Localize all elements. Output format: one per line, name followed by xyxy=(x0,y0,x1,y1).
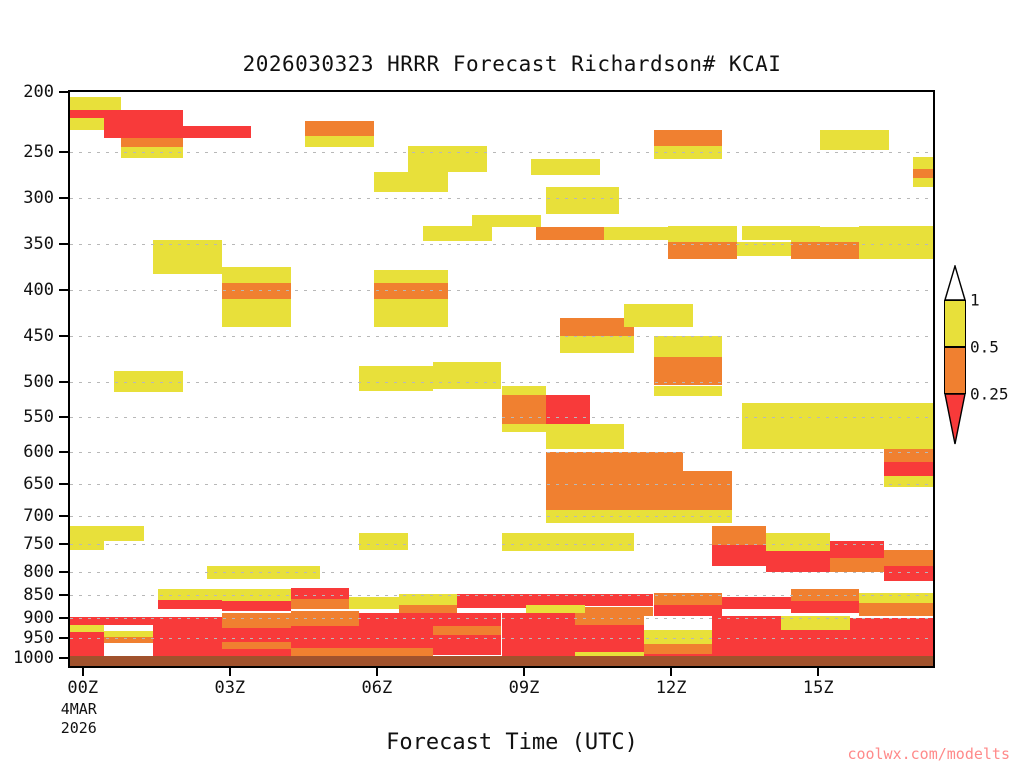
heatmap-cell xyxy=(560,336,634,353)
heatmap-cell xyxy=(374,172,448,191)
colorbar-tick-label: 1 xyxy=(970,291,980,310)
gridline xyxy=(70,572,933,573)
heatmap-cell xyxy=(433,626,502,635)
heatmap-cell xyxy=(359,533,408,550)
y-axis-tick-mark xyxy=(59,594,68,596)
heatmap-cell xyxy=(222,613,291,628)
ground-band xyxy=(70,656,933,666)
y-axis-tick-mark xyxy=(59,637,68,639)
y-axis-tick-mark xyxy=(59,617,68,619)
heatmap-cell xyxy=(104,526,143,541)
heatmap-cell xyxy=(791,601,860,614)
heatmap-cell xyxy=(222,299,291,327)
heatmap-cell xyxy=(374,299,448,327)
heatmap-cell xyxy=(624,304,693,327)
heatmap-cell xyxy=(546,187,620,214)
heatmap-cell xyxy=(884,476,933,487)
y-axis-tick-label: 400 xyxy=(0,280,54,300)
y-axis-tick-mark xyxy=(59,243,68,245)
heatmap-cell xyxy=(884,566,933,581)
heatmap-cell xyxy=(644,630,713,644)
heatmap-cell xyxy=(546,424,624,449)
heatmap-cell xyxy=(305,136,374,147)
heatmap-cell xyxy=(433,362,502,389)
heatmap-cell xyxy=(766,551,830,572)
heatmap-cells xyxy=(70,92,933,666)
colorbar-under-arrow xyxy=(944,393,966,445)
gridline xyxy=(70,595,933,596)
gridline xyxy=(70,452,933,453)
gridline xyxy=(70,290,933,291)
y-axis-tick-mark xyxy=(59,451,68,453)
heatmap-cell xyxy=(158,600,222,609)
colorbar-tick-label: 0.5 xyxy=(970,338,999,357)
gridline xyxy=(70,382,933,383)
x-axis-tick-label: 12Z xyxy=(656,678,687,698)
heatmap-cell xyxy=(712,545,766,566)
heatmap-cell xyxy=(502,386,546,395)
y-axis-tick-mark xyxy=(59,151,68,153)
heatmap-cell xyxy=(654,336,723,357)
heatmap-cell xyxy=(742,403,869,449)
heatmap-cell xyxy=(70,97,121,110)
heatmap-cell xyxy=(575,533,634,551)
y-axis-tick-mark xyxy=(59,289,68,291)
heatmap-cell xyxy=(654,130,723,146)
heatmap-cell xyxy=(913,169,933,178)
heatmap-cell xyxy=(859,226,933,243)
heatmap-cell xyxy=(423,226,492,242)
heatmap-cell xyxy=(859,603,933,615)
y-axis: 2002503003504004505005506006507007508008… xyxy=(0,90,68,668)
heatmap-cell xyxy=(104,110,182,138)
y-axis-tick-mark xyxy=(59,381,68,383)
y-axis-tick-label: 200 xyxy=(0,82,54,102)
y-axis-tick-label: 250 xyxy=(0,142,54,162)
y-axis-tick-label: 450 xyxy=(0,326,54,346)
y-axis-tick-label: 800 xyxy=(0,562,54,582)
heatmap-cell xyxy=(604,227,673,240)
y-axis-tick-mark xyxy=(59,416,68,418)
gridline xyxy=(70,198,933,199)
y-axis-tick-label: 850 xyxy=(0,585,54,605)
heatmap-cell xyxy=(668,226,737,243)
x-axis-tick-mark xyxy=(376,668,378,676)
heatmap-cell xyxy=(712,526,766,545)
heatmap-cell xyxy=(712,616,781,658)
heatmap-cell xyxy=(349,597,398,609)
x-axis-tick-mark xyxy=(82,668,84,676)
colorbar-segment xyxy=(944,300,966,347)
heatmap-cell xyxy=(546,452,683,510)
heatmap-cell xyxy=(433,613,502,626)
heatmap-cell xyxy=(222,267,291,283)
heatmap-cell xyxy=(766,533,830,551)
colorbar-segment xyxy=(944,347,966,394)
heatmap-cell xyxy=(502,424,546,432)
heatmap-cell xyxy=(472,215,541,228)
heatmap-cell xyxy=(502,395,546,424)
gridline xyxy=(70,244,933,245)
plot-area xyxy=(68,90,935,668)
x-axis-tick-mark xyxy=(523,668,525,676)
x-axis-tick-mark xyxy=(229,668,231,676)
gridline xyxy=(70,638,933,639)
heatmap-cell xyxy=(781,630,850,658)
y-axis-tick-mark xyxy=(59,543,68,545)
y-axis-tick-mark xyxy=(59,335,68,337)
heatmap-cell xyxy=(291,626,360,648)
x-axis-tick-mark xyxy=(817,668,819,676)
heatmap-cell xyxy=(913,157,933,169)
heatmap-cell xyxy=(536,227,605,240)
y-axis-tick-mark xyxy=(59,91,68,93)
heatmap-cell xyxy=(121,138,182,148)
heatmap-cell xyxy=(222,628,291,642)
y-axis-tick-label: 500 xyxy=(0,372,54,392)
heatmap-cell xyxy=(820,130,889,149)
colorbar-legend: 10.50.25 xyxy=(944,300,966,440)
x-axis-tick-label: 03Z xyxy=(214,678,245,698)
watermark: coolwx.com/modelts xyxy=(847,745,1010,763)
heatmap-cell xyxy=(560,318,634,336)
heatmap-cell xyxy=(305,121,374,137)
heatmap-cell xyxy=(869,403,933,449)
heatmap-cell xyxy=(70,110,104,118)
heatmap-cell xyxy=(683,471,732,509)
x-axis-tick-label: 06Z xyxy=(362,678,393,698)
heatmap-cell xyxy=(884,462,933,477)
y-axis-tick-label: 700 xyxy=(0,506,54,526)
heatmap-cell xyxy=(408,159,486,172)
y-axis-tick-label: 300 xyxy=(0,188,54,208)
heatmap-cell xyxy=(291,588,350,599)
gridline xyxy=(70,618,933,619)
x-axis-tick-label: 09Z xyxy=(509,678,540,698)
heatmap-cell xyxy=(575,613,644,625)
heatmap-cell xyxy=(531,159,600,175)
heatmap-cell xyxy=(359,366,433,391)
gridline xyxy=(70,152,933,153)
heatmap-cell xyxy=(374,270,448,283)
gridline xyxy=(70,544,933,545)
heatmap-cell xyxy=(222,601,291,612)
heatmap-cell xyxy=(884,449,933,462)
gridline xyxy=(70,417,933,418)
heatmap-cell xyxy=(222,642,291,649)
heatmap-cell xyxy=(457,594,526,608)
heatmap-cell xyxy=(183,126,252,138)
x-axis-tick-label: 00Z xyxy=(67,678,98,698)
heatmap-cell xyxy=(742,226,820,241)
chart-title: 2026030323 HRRR Forecast Richardson# KCA… xyxy=(0,52,1024,76)
y-axis-tick-label: 750 xyxy=(0,534,54,554)
heatmap-cell xyxy=(913,178,933,187)
heatmap-cell xyxy=(153,240,222,274)
x-axis-tick-mark xyxy=(670,668,672,676)
y-axis-tick-mark xyxy=(59,483,68,485)
heatmap-cell xyxy=(291,599,350,609)
colorbar-tick-label: 0.25 xyxy=(970,385,1009,404)
y-axis-tick-mark xyxy=(59,197,68,199)
x-axis-tick-label: 15Z xyxy=(803,678,834,698)
heatmap-cell xyxy=(830,558,884,572)
heatmap-cell xyxy=(70,526,104,550)
chart-page: 2026030323 HRRR Forecast Richardson# KCA… xyxy=(0,0,1024,768)
x-axis-date-line: 4MAR xyxy=(61,700,97,719)
gridline xyxy=(70,516,933,517)
y-axis-tick-label: 650 xyxy=(0,474,54,494)
heatmap-cell xyxy=(546,395,590,424)
y-axis-tick-label: 900 xyxy=(0,608,54,628)
heatmap-cell xyxy=(70,632,104,658)
y-axis-tick-label: 550 xyxy=(0,407,54,427)
heatmap-cell xyxy=(722,597,791,609)
y-axis-tick-mark xyxy=(59,515,68,517)
gridline xyxy=(70,336,933,337)
heatmap-cell xyxy=(654,386,723,397)
heatmap-cell xyxy=(502,613,576,658)
y-axis-tick-label: 1000 xyxy=(0,648,54,668)
heatmap-cell xyxy=(644,644,713,654)
gridline xyxy=(70,484,933,485)
y-axis-tick-label: 600 xyxy=(0,442,54,462)
heatmap-cell xyxy=(502,533,576,551)
colorbar-over-arrow-outline xyxy=(944,265,966,301)
y-axis-tick-label: 950 xyxy=(0,628,54,648)
y-axis-tick-mark xyxy=(59,657,68,659)
y-axis-tick-mark xyxy=(59,571,68,573)
heatmap-cell xyxy=(884,550,933,567)
y-axis-tick-label: 350 xyxy=(0,234,54,254)
